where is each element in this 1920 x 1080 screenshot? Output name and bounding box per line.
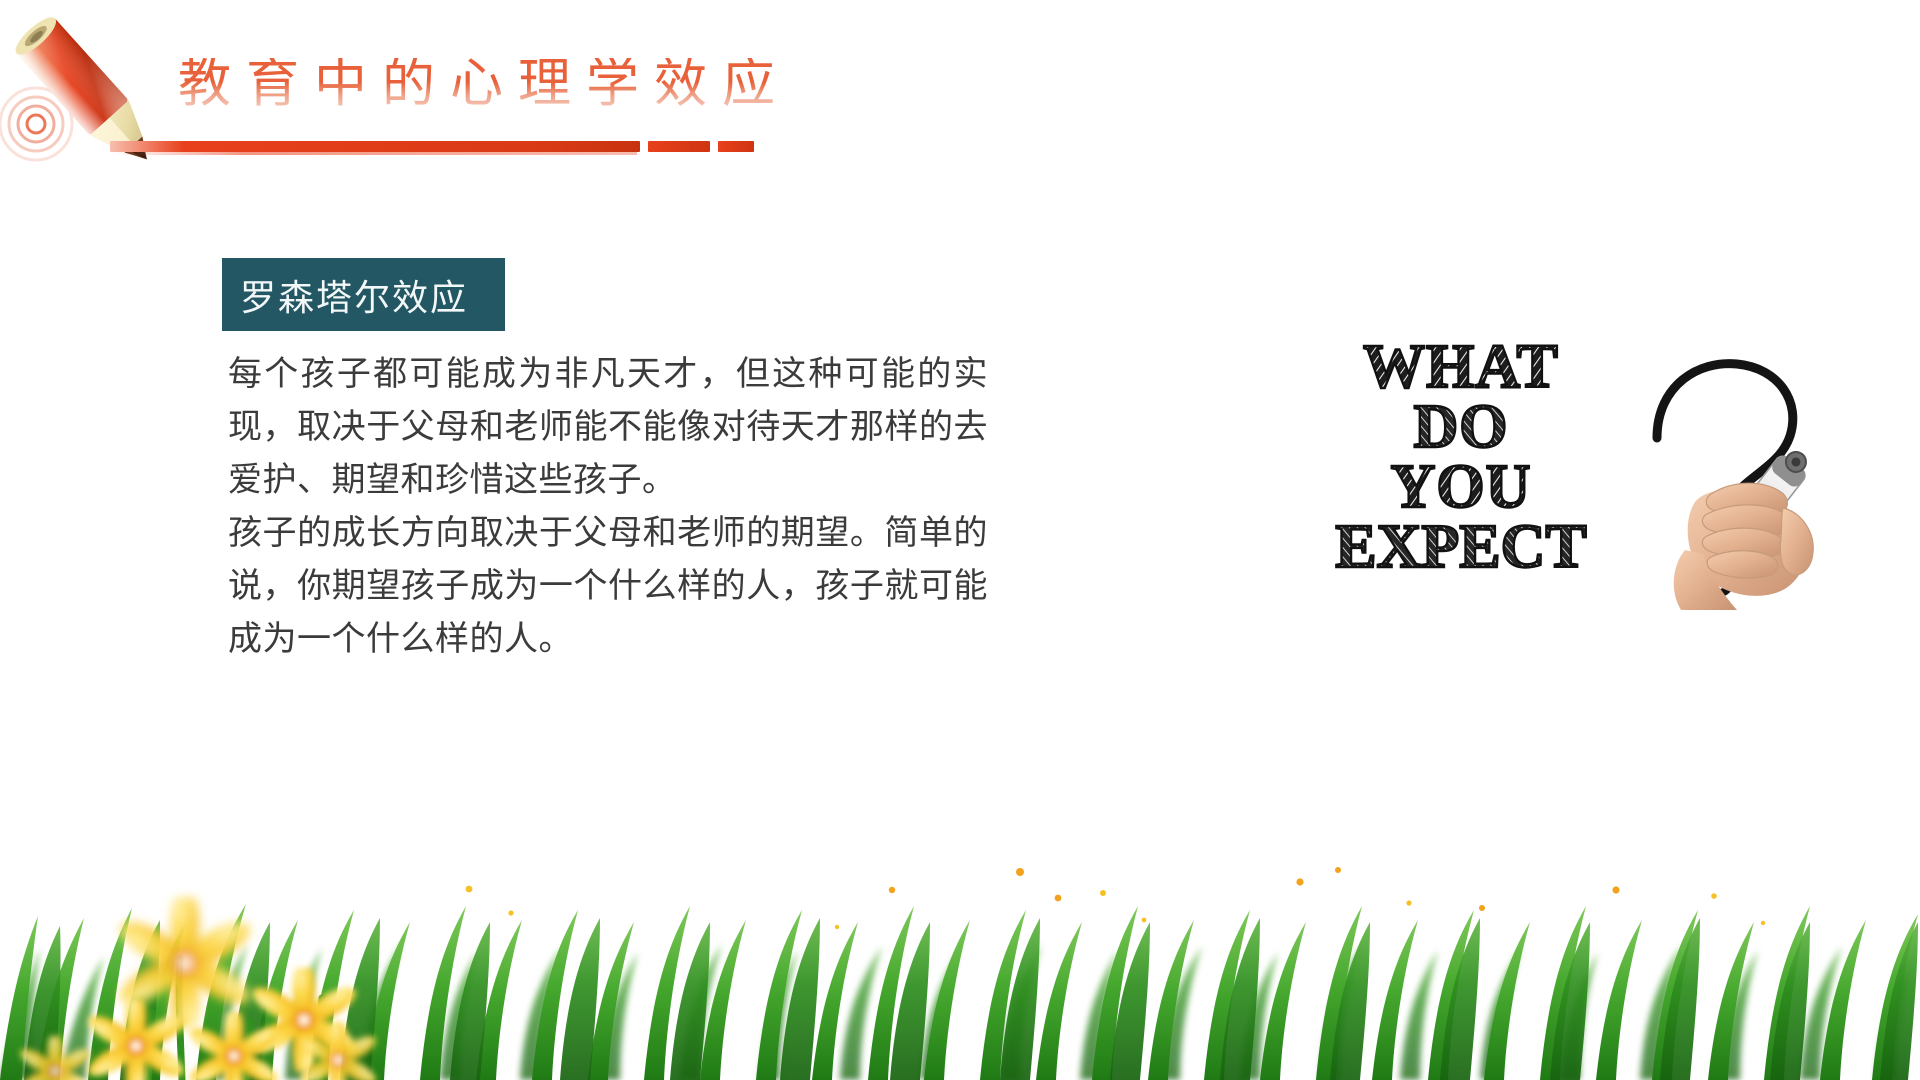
grass-layer-back [0, 942, 1914, 1080]
pollen-dots [889, 867, 1620, 911]
title-underline-dash-2 [718, 141, 754, 152]
title-underline-primary [110, 141, 640, 152]
body-paragraph: 孩子的成长方向取决于父母和老师的期望。简单的说，你期望孩子成为一个什么样的人，孩… [228, 507, 988, 666]
what-do-you-expect-sketch: WHAT DO YOU EXPECT [1285, 330, 1830, 620]
flower-stems [148, 958, 322, 1080]
slide-canvas: 教育中的心理学效应 罗森塔尔效应 每个孩子都可能成为非凡天才，但这种可能的实现，… [0, 0, 1920, 1080]
title-underline-dash-1 [648, 141, 710, 152]
grass-and-flowers-band [0, 750, 1920, 1080]
body-text-block: 每个孩子都可能成为非凡天才，但这种可能的实现，取决于父母和老师能不能像对待天才那… [228, 348, 988, 666]
daisy-cluster [452, 872, 1774, 937]
page-title: 教育中的心理学效应 [178, 58, 790, 111]
sketch-line-do: DO [1414, 393, 1509, 461]
sketch-line-expect: EXPECT [1335, 513, 1586, 581]
grass-layer-front [0, 904, 1918, 1080]
title-underline-highlight [112, 152, 637, 155]
flower-cluster [17, 889, 380, 1080]
slide-title-area: 教育中的心理学效应 [0, 0, 900, 200]
section-header-label: 罗森塔尔效应 [222, 269, 468, 321]
sketch-line-you: YOU [1391, 453, 1532, 521]
hand-with-marker [1674, 444, 1816, 610]
body-paragraph: 每个孩子都可能成为非凡天才，但这种可能的实现，取决于父母和老师能不能像对待天才那… [228, 348, 988, 507]
sketch-line-what: WHAT [1363, 333, 1559, 401]
section-header-box: 罗森塔尔效应 [222, 258, 505, 331]
